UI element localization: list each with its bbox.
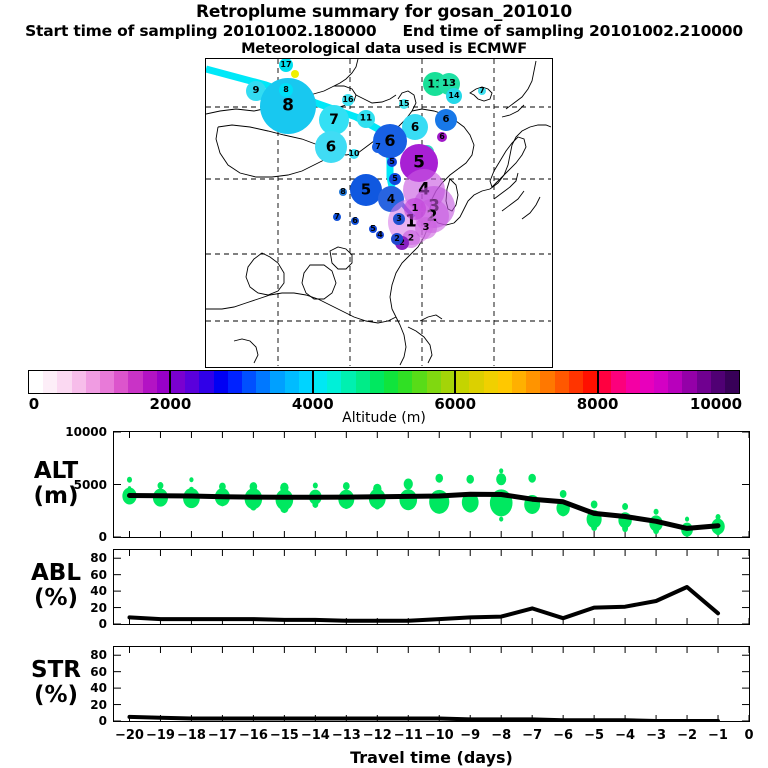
colorbar-swatch	[725, 371, 739, 393]
coastline	[356, 95, 396, 103]
map-marker-label: 14	[448, 92, 459, 100]
colorbar-swatch	[214, 371, 228, 393]
x-tick-label: −18	[177, 728, 206, 743]
y-tick-label: 40	[51, 681, 107, 695]
altitude-scatter-blob	[591, 524, 597, 531]
colorbar-separator	[312, 370, 314, 394]
map-marker-label: 3	[396, 215, 402, 223]
colorbar-swatch	[697, 371, 711, 393]
colorbar-swatch	[100, 371, 114, 393]
page-title: Retroplume summary for gosan_201010	[0, 2, 768, 22]
colorbar-swatch	[469, 371, 483, 393]
altitude-scatter-blob	[529, 506, 536, 514]
altitude-scatter-blob	[405, 502, 412, 510]
colorbar-separator	[597, 370, 599, 394]
x-tick-label: −10	[425, 728, 454, 743]
x-tick-label: −19	[146, 728, 175, 743]
map-marker-label: 5	[361, 183, 371, 198]
altitude-scatter-blob	[250, 482, 258, 491]
colorbar-swatch	[555, 371, 569, 393]
x-tick-label: −12	[363, 728, 392, 743]
coastline	[332, 59, 358, 87]
colorbar-swatch	[72, 371, 86, 393]
altitude-scatter-blob	[404, 478, 413, 489]
coastline	[454, 189, 490, 223]
map-marker-label: 6	[443, 115, 450, 125]
altitude-scatter-blob	[496, 473, 506, 485]
map-marker-label: 8	[282, 98, 294, 115]
colorbar-swatch	[626, 371, 640, 393]
colorbar-swatch	[384, 371, 398, 393]
x-tick-label: −13	[332, 728, 361, 743]
x-tick-label: 0	[744, 728, 753, 743]
colorbar-swatch	[412, 371, 426, 393]
altitude-scatter-blob	[622, 503, 628, 510]
coastline	[490, 137, 526, 187]
colorbar-swatch	[185, 371, 199, 393]
x-axis-title: Travel time (days)	[113, 748, 750, 767]
altitude-scatter-blob	[220, 500, 225, 506]
colorbar-swatch	[270, 371, 284, 393]
map-marker-label: 6	[326, 140, 336, 155]
x-tick-label: −4	[615, 728, 635, 743]
x-tick-label: −8	[491, 728, 511, 743]
map-marker-label: 15	[398, 100, 409, 108]
map-marker-label: 10	[348, 150, 359, 158]
retroplume-map[interactable]: 1798816711156101113147666656755845765443…	[205, 58, 553, 368]
y-tick-label: 0	[51, 530, 107, 544]
met-data-label: Meteorological data used is ECMWF	[0, 41, 768, 58]
map-marker-label: 11	[360, 115, 373, 124]
altitude-colorbar	[28, 370, 740, 394]
coastline	[502, 191, 524, 211]
altitude-scatter-blob	[219, 483, 226, 491]
abl-panel[interactable]	[113, 549, 750, 625]
y-tick-label: 20	[51, 601, 107, 615]
map-marker-label: 7	[334, 213, 340, 221]
coastline	[206, 293, 396, 323]
x-tick-label: −20	[115, 728, 144, 743]
map-marker-label: 5	[389, 158, 395, 166]
altitude-scatter-blob	[591, 500, 598, 508]
map-marker-label: 6	[439, 133, 445, 141]
colorbar-swatch	[441, 371, 455, 393]
colorbar-swatch	[29, 371, 43, 393]
map-marker-label: 1	[412, 204, 419, 214]
map-marker-label: 5	[392, 175, 398, 183]
colorbar-swatch	[569, 371, 583, 393]
coastline	[330, 247, 352, 269]
map-marker-label: 6	[384, 133, 395, 149]
altitude-scatter-blob	[128, 486, 131, 490]
x-tick-label: −3	[646, 728, 666, 743]
map-marker-label: 4	[387, 193, 395, 205]
sampling-times: Start time of sampling 20101002.180000 E…	[0, 22, 768, 41]
altitude-scatter-blob	[373, 484, 381, 494]
colorbar-swatch	[327, 371, 341, 393]
map-marker-label: 6	[352, 217, 358, 225]
panel-plot-area	[114, 550, 749, 624]
altitude-scatter-blob	[250, 503, 257, 511]
colorbar-swatch	[341, 371, 355, 393]
altitude-scatter-blob	[654, 509, 659, 515]
altitude-scatter-blob	[622, 525, 628, 532]
colorbar-swatch	[285, 371, 299, 393]
colorbar-swatch	[114, 371, 128, 393]
coastline	[494, 173, 518, 199]
panel-plot-area	[114, 647, 749, 721]
colorbar-swatch	[583, 371, 597, 393]
colorbar-swatch	[540, 371, 554, 393]
colorbar-swatch	[398, 371, 412, 393]
map-marker-label: 16	[342, 96, 353, 104]
colorbar-swatch	[427, 371, 441, 393]
altitude-scatter-blob	[127, 477, 132, 483]
altitude-scatter-blob	[560, 509, 566, 516]
altitude-scatter-blob	[499, 517, 503, 522]
altitude-scatter-blob	[499, 468, 503, 473]
altitude-scatter-blob	[280, 503, 288, 513]
altitude-scatter-blob	[560, 490, 567, 498]
altitude-scatter-blob	[158, 488, 162, 493]
map-marker-label: 17	[280, 61, 291, 69]
altitude-scatter-blob	[374, 502, 381, 510]
colorbar-swatch	[199, 371, 213, 393]
map-marker-label: 4	[377, 231, 383, 239]
coastline	[396, 317, 406, 365]
y-tick-label: 60	[51, 665, 107, 679]
altitude-scatter-blob	[716, 514, 721, 520]
altitude-scatter-blob	[685, 517, 689, 522]
x-tick-label: −11	[394, 728, 423, 743]
coastline	[234, 339, 258, 363]
y-tick-label: 60	[51, 568, 107, 582]
str-panel[interactable]	[113, 646, 750, 722]
colorbar-swatch	[228, 371, 242, 393]
coastline	[420, 315, 442, 321]
map-marker-label: 7	[375, 143, 381, 151]
colorbar-swatch	[86, 371, 100, 393]
altitude-scatter-blob	[343, 502, 349, 509]
altitude-scatter-blob	[466, 475, 474, 484]
colorbar-swatch	[370, 371, 384, 393]
altitude-scatter-blob	[435, 474, 443, 483]
colorbar-swatch	[57, 371, 71, 393]
x-tick-label: −6	[553, 728, 573, 743]
y-tick-label: 20	[51, 698, 107, 712]
map-marker-label: 7	[479, 87, 485, 95]
y-tick-label: 0	[51, 714, 107, 728]
map-marker-label: 9	[253, 86, 260, 96]
colorbar-swatch	[526, 371, 540, 393]
colorbar-swatch	[256, 371, 270, 393]
colorbar-swatch	[171, 371, 185, 393]
x-tick-label: −16	[239, 728, 268, 743]
coastline	[506, 61, 536, 109]
x-tick-label: −9	[460, 728, 480, 743]
colorbar-swatch	[498, 371, 512, 393]
colorbar-swatch	[640, 371, 654, 393]
colorbar-swatch	[611, 371, 625, 393]
colorbar-title: Altitude (m)	[0, 410, 768, 426]
abl-line	[130, 587, 719, 621]
y-tick-label: 10000	[51, 425, 107, 439]
altitude-scatter-blob	[653, 527, 659, 534]
colorbar-swatch	[143, 371, 157, 393]
x-tick-label: −5	[584, 728, 604, 743]
colorbar-swatch	[128, 371, 142, 393]
x-tick-label: −14	[301, 728, 330, 743]
map-marker-label: 3	[423, 223, 430, 233]
colorbar-swatch	[484, 371, 498, 393]
map-marker-label: 8	[340, 188, 346, 196]
panel-plot-area	[114, 432, 749, 537]
coastline	[302, 265, 336, 299]
x-tick-label: −1	[708, 728, 728, 743]
altitude-scatter-blob	[343, 482, 350, 490]
altitude-scatter-blob	[685, 531, 690, 537]
colorbar-swatch	[668, 371, 682, 393]
map-coastlines	[206, 59, 551, 366]
map-marker-label: 5	[370, 225, 376, 233]
altitude-scatter-blob	[436, 504, 443, 512]
colorbar-swatch	[313, 371, 327, 393]
map-marker-label: 7	[329, 113, 339, 127]
map-marker-label: 8	[283, 86, 289, 94]
str-line	[130, 717, 719, 721]
coastline	[408, 327, 432, 363]
colorbar-swatch	[597, 371, 611, 393]
colorbar-swatch	[242, 371, 256, 393]
colorbar-swatch	[43, 371, 57, 393]
y-tick-label: 0	[51, 617, 107, 631]
y-tick-label: 5000	[51, 478, 107, 492]
altitude-scatter-blob	[189, 477, 193, 482]
colorbar-separator	[169, 370, 171, 394]
x-tick-label: −15	[270, 728, 299, 743]
altitude-scatter-blob	[528, 474, 536, 483]
x-tick-label: −17	[208, 728, 237, 743]
colorbar-swatch	[711, 371, 725, 393]
alt-panel[interactable]	[113, 431, 750, 538]
altitude-scatter-blob	[158, 482, 164, 489]
x-tick-label: −2	[677, 728, 697, 743]
map-marker	[291, 70, 299, 78]
colorbar-separator	[454, 370, 456, 394]
altitude-scatter-blob	[189, 487, 194, 493]
title-block: Retroplume summary for gosan_201010 Star…	[0, 0, 768, 58]
y-tick-label: 80	[51, 648, 107, 662]
altitude-scatter-blob	[715, 528, 721, 535]
colorbar-swatch	[455, 371, 469, 393]
coastline	[522, 197, 540, 219]
colorbar-swatch	[654, 371, 668, 393]
colorbar-swatch	[512, 371, 526, 393]
altitude-scatter-blob	[313, 483, 318, 489]
y-tick-label: 40	[51, 584, 107, 598]
colorbar-swatch	[356, 371, 370, 393]
map-marker-label: 2	[394, 235, 400, 243]
x-tick-label: −7	[522, 728, 542, 743]
altitude-scatter-blob	[467, 505, 474, 513]
altitude-scatter-blob	[312, 501, 318, 508]
altitude-scatter-blob	[280, 483, 288, 493]
y-tick-label: 80	[51, 551, 107, 565]
colorbar-swatch	[682, 371, 696, 393]
map-marker-label: 6	[411, 121, 419, 133]
